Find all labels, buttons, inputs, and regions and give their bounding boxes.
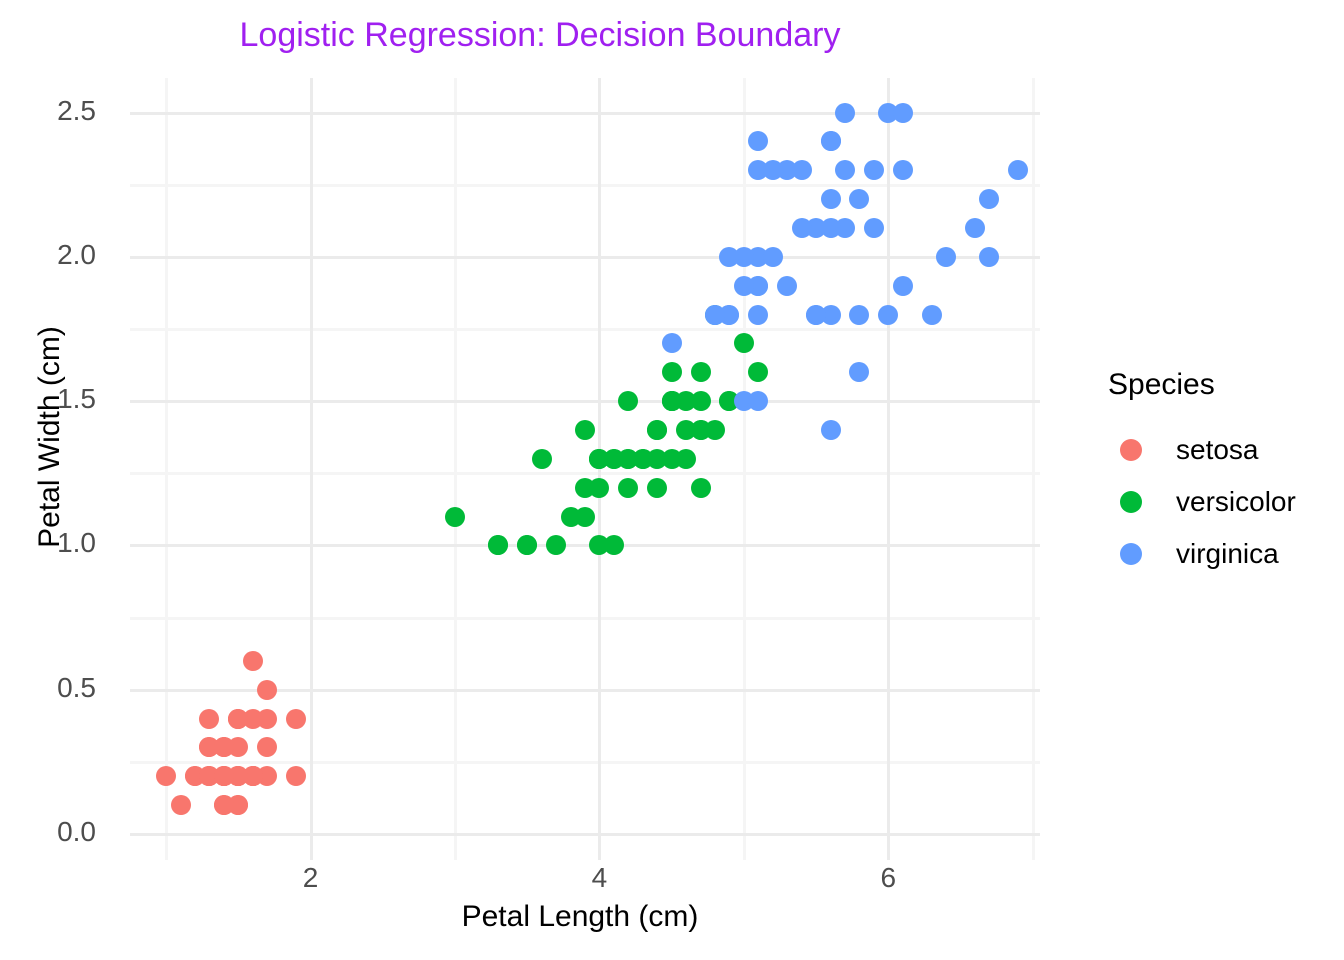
legend: Species setosaversicolorvirginica — [1108, 368, 1338, 580]
gridline-major-horizontal — [130, 833, 1040, 836]
legend-label: setosa — [1176, 434, 1259, 466]
legend-items: setosaversicolorvirginica — [1108, 424, 1338, 580]
data-point-versicolor — [575, 420, 595, 440]
data-point-versicolor — [647, 420, 667, 440]
data-point-virginica — [763, 247, 783, 267]
y-tick-label: 2.5 — [0, 95, 96, 127]
data-point-virginica — [835, 103, 855, 123]
data-point-versicolor — [676, 449, 696, 469]
data-point-versicolor — [618, 391, 638, 411]
data-point-virginica — [979, 247, 999, 267]
gridline-major-vertical — [887, 78, 890, 860]
data-point-virginica — [821, 131, 841, 151]
legend-label: virginica — [1176, 538, 1279, 570]
data-point-setosa — [286, 766, 306, 786]
legend-item-setosa[interactable]: setosa — [1108, 424, 1338, 476]
data-point-virginica — [705, 305, 725, 325]
data-point-versicolor — [691, 478, 711, 498]
plot-panel — [130, 78, 1040, 860]
y-tick-label: 2.0 — [0, 239, 96, 271]
chart-title: Logistic Regression: Decision Boundary — [0, 16, 1080, 55]
data-point-virginica — [763, 160, 783, 180]
data-point-setosa — [171, 795, 191, 815]
data-point-virginica — [849, 305, 869, 325]
legend-item-virginica[interactable]: virginica — [1108, 528, 1338, 580]
data-point-setosa — [257, 737, 277, 757]
data-point-versicolor — [748, 362, 768, 382]
data-point-versicolor — [445, 507, 465, 527]
gridline-minor-vertical — [165, 78, 168, 860]
data-point-virginica — [922, 305, 942, 325]
data-point-setosa — [243, 651, 263, 671]
data-point-virginica — [864, 160, 884, 180]
data-point-virginica — [936, 247, 956, 267]
gridline-minor-horizontal — [130, 617, 1040, 620]
data-point-virginica — [864, 218, 884, 238]
gridline-minor-vertical — [454, 78, 457, 860]
data-point-virginica — [748, 305, 768, 325]
data-point-virginica — [821, 218, 841, 238]
y-tick-label: 1.0 — [0, 527, 96, 559]
data-point-versicolor — [604, 449, 624, 469]
data-point-versicolor — [662, 362, 682, 382]
data-point-versicolor — [705, 420, 725, 440]
legend-label: versicolor — [1176, 486, 1296, 518]
legend-title: Species — [1108, 368, 1338, 402]
data-point-virginica — [849, 189, 869, 209]
y-tick-label: 1.5 — [0, 383, 96, 415]
legend-swatch-versicolor — [1120, 491, 1142, 513]
x-axis-title: Petal Length (cm) — [130, 900, 1030, 934]
legend-key — [1108, 491, 1154, 513]
gridline-major-vertical — [310, 78, 313, 860]
y-tick-label: 0.5 — [0, 672, 96, 704]
data-point-versicolor — [691, 391, 711, 411]
gridline-major-horizontal — [130, 400, 1040, 403]
data-point-versicolor — [676, 420, 696, 440]
legend-swatch-virginica — [1120, 543, 1142, 565]
data-point-setosa — [199, 709, 219, 729]
legend-key — [1108, 439, 1154, 461]
data-point-virginica — [662, 333, 682, 353]
data-point-versicolor — [532, 449, 552, 469]
data-point-virginica — [893, 160, 913, 180]
data-point-virginica — [777, 276, 797, 296]
data-point-virginica — [1008, 160, 1028, 180]
data-point-virginica — [748, 131, 768, 151]
data-point-virginica — [979, 189, 999, 209]
data-point-virginica — [821, 189, 841, 209]
data-point-virginica — [821, 420, 841, 440]
data-point-versicolor — [604, 535, 624, 555]
data-point-versicolor — [561, 507, 581, 527]
x-tick-label: 4 — [559, 862, 639, 894]
data-point-versicolor — [633, 449, 653, 469]
legend-swatch-setosa — [1120, 439, 1142, 461]
data-point-setosa — [214, 795, 234, 815]
y-axis-title: Petal Width (cm) — [33, 137, 67, 737]
data-point-virginica — [878, 305, 898, 325]
data-point-versicolor — [618, 478, 638, 498]
data-point-virginica — [806, 305, 826, 325]
data-point-setosa — [286, 709, 306, 729]
data-point-versicolor — [488, 535, 508, 555]
data-point-versicolor — [662, 391, 682, 411]
data-point-virginica — [965, 218, 985, 238]
data-point-setosa — [156, 766, 176, 786]
data-point-virginica — [792, 218, 812, 238]
data-point-versicolor — [546, 535, 566, 555]
gridline-major-horizontal — [130, 544, 1040, 547]
data-point-versicolor — [691, 362, 711, 382]
gridline-minor-horizontal — [130, 328, 1040, 331]
data-point-virginica — [835, 160, 855, 180]
gridline-minor-vertical — [1032, 78, 1035, 860]
data-point-virginica — [734, 276, 754, 296]
gridline-major-horizontal — [130, 256, 1040, 259]
data-point-virginica — [792, 160, 812, 180]
gridline-minor-horizontal — [130, 472, 1040, 475]
data-point-virginica — [748, 391, 768, 411]
data-point-virginica — [849, 362, 869, 382]
data-point-setosa — [257, 680, 277, 700]
gridline-minor-horizontal — [130, 761, 1040, 764]
data-point-versicolor — [517, 535, 537, 555]
y-tick-label: 0.0 — [0, 816, 96, 848]
data-point-versicolor — [647, 478, 667, 498]
x-tick-label: 2 — [271, 862, 351, 894]
x-tick-label: 6 — [848, 862, 928, 894]
legend-key — [1108, 543, 1154, 565]
gridline-minor-horizontal — [130, 184, 1040, 187]
data-point-virginica — [893, 103, 913, 123]
data-point-versicolor — [589, 478, 609, 498]
scatter-plot-figure: Logistic Regression: Decision Boundary P… — [0, 0, 1344, 960]
gridline-major-vertical — [598, 78, 601, 860]
data-point-virginica — [893, 276, 913, 296]
gridline-minor-vertical — [743, 78, 746, 860]
data-point-versicolor — [734, 333, 754, 353]
data-point-setosa — [228, 709, 248, 729]
legend-item-versicolor[interactable]: versicolor — [1108, 476, 1338, 528]
